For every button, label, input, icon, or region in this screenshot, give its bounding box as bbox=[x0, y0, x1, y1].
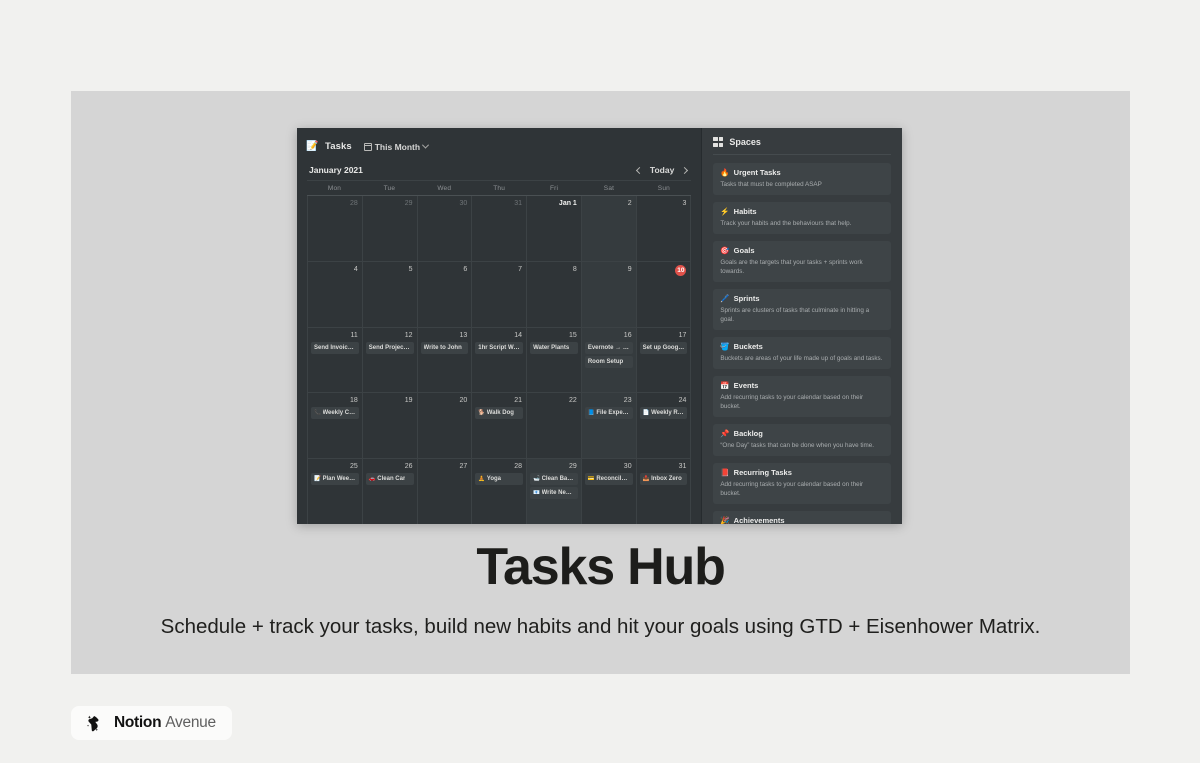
day-number: 15 bbox=[530, 331, 578, 340]
space-card-header: 🖊️Sprints bbox=[720, 294, 884, 303]
memo-emoji-icon: 📝 bbox=[307, 141, 318, 152]
task-chip-label: Set up Googl... bbox=[643, 344, 685, 352]
calendar-day-cell[interactable]: 3 bbox=[637, 196, 692, 261]
calendar-day-cell[interactable]: 12Send Project ... bbox=[363, 328, 418, 393]
space-name-label: Habits bbox=[734, 207, 757, 216]
calendar-day-cell[interactable]: 30 bbox=[418, 196, 473, 261]
day-number: 10 bbox=[640, 265, 688, 276]
calendar-day-cell[interactable]: 31 bbox=[472, 196, 527, 261]
day-number: 23 bbox=[585, 396, 633, 405]
calendar-task-chip[interactable]: 🧘Yoga bbox=[475, 473, 523, 485]
calendar-day-cell[interactable]: 28 bbox=[307, 196, 363, 261]
person-emoji-icon: 🧘 bbox=[478, 476, 484, 482]
space-card-header: 🔥Urgent Tasks bbox=[720, 168, 884, 177]
task-chip-label: Room Setup bbox=[588, 358, 623, 366]
calendar-task-chip[interactable]: Send Invoice ... bbox=[311, 342, 359, 354]
space-card-header: 📅Events bbox=[720, 381, 884, 390]
calendar-day-cell[interactable]: 20 bbox=[418, 393, 473, 458]
space-description: Track your habits and the behaviours tha… bbox=[720, 219, 884, 228]
day-number: 31 bbox=[640, 462, 688, 471]
space-name-label: Achievements bbox=[734, 516, 785, 524]
weekday-header: Wed bbox=[417, 185, 472, 192]
day-number: 30 bbox=[585, 462, 633, 471]
task-chip-label: Walk Dog bbox=[487, 409, 514, 417]
view-selector[interactable]: This Month bbox=[364, 142, 428, 152]
day-number: 9 bbox=[585, 265, 633, 274]
day-number: 7 bbox=[475, 265, 523, 274]
space-name-label: Urgent Tasks bbox=[734, 168, 781, 177]
space-description: Sprints are clusters of tasks that culmi… bbox=[720, 306, 884, 324]
day-number: 5 bbox=[366, 265, 414, 274]
previous-month-button[interactable] bbox=[635, 166, 643, 174]
calendar-day-cell[interactable]: 25📝Plan Week... bbox=[307, 459, 363, 524]
dog-emoji-icon: 🐕 bbox=[478, 410, 484, 416]
day-number: 28 bbox=[475, 462, 523, 471]
month-header: January 2021 Today bbox=[307, 165, 691, 181]
calendar-task-chip[interactable]: 💳Reconcile ... bbox=[585, 473, 633, 485]
spaces-pane: Spaces 🔥Urgent TasksTasks that must be c… bbox=[701, 128, 902, 524]
space-card-header: 📕Recurring Tasks bbox=[720, 468, 884, 477]
calendar-task-chip[interactable]: 📘File Expen... bbox=[585, 407, 633, 419]
space-description: Goals are the targets that your tasks + … bbox=[720, 258, 884, 276]
space-card[interactable]: 🎉Achievements bbox=[713, 511, 891, 524]
calendar-day-cell[interactable]: 9 bbox=[582, 262, 637, 327]
book-emoji-icon: 📘 bbox=[588, 410, 594, 416]
weekday-header-row: MonTueWedThuFriSatSun bbox=[307, 181, 691, 195]
calendar-day-cell[interactable]: 30💳Reconcile ... bbox=[582, 459, 637, 524]
space-emoji-icon: ⚡ bbox=[720, 208, 729, 216]
day-number: 20 bbox=[421, 396, 469, 405]
calendar-day-cell[interactable]: 22 bbox=[527, 393, 582, 458]
space-card-header: 🎯Goals bbox=[720, 246, 884, 255]
day-number: 13 bbox=[421, 331, 469, 340]
calendar-grid: 28293031Jan 1234567891011Send Invoice ..… bbox=[307, 195, 691, 524]
space-emoji-icon: 📅 bbox=[720, 382, 729, 390]
space-emoji-icon: 🎉 bbox=[720, 517, 729, 524]
weekday-header: Fri bbox=[527, 185, 582, 192]
car-emoji-icon: 🚗 bbox=[369, 476, 375, 482]
calendar-day-cell[interactable]: 17Set up Googl... bbox=[637, 328, 692, 393]
calendar-task-chip[interactable]: 📧Write New... bbox=[530, 487, 578, 499]
calendar-day-cell[interactable]: 4 bbox=[307, 262, 363, 327]
space-description: Add recurring tasks to your calendar bas… bbox=[720, 480, 884, 498]
today-button[interactable]: Today bbox=[650, 165, 674, 175]
day-number: 31 bbox=[475, 199, 523, 208]
task-chip-label: File Expen... bbox=[596, 409, 629, 417]
bath-emoji-icon: 🛁 bbox=[533, 476, 539, 482]
calendar-pane: 📝 Tasks This Month January 2021 Today Mo… bbox=[297, 128, 701, 524]
day-number: 2 bbox=[585, 199, 633, 208]
brand-name: Notion Avenue bbox=[114, 714, 216, 732]
space-card[interactable]: 🖊️SprintsSprints are clusters of tasks t… bbox=[713, 289, 891, 330]
calendar-day-cell[interactable]: 21🐕Walk Dog bbox=[472, 393, 527, 458]
calendar-day-cell[interactable]: 8 bbox=[527, 262, 582, 327]
calendar-day-cell[interactable]: 6 bbox=[418, 262, 473, 327]
memo-emoji-icon: 📝 bbox=[314, 476, 320, 482]
calendar-week-row: 45678910 bbox=[307, 261, 691, 327]
day-number: Jan 1 bbox=[530, 199, 578, 208]
day-number: 17 bbox=[640, 331, 688, 340]
calendar-day-cell[interactable]: 24📄Weekly Re... bbox=[637, 393, 692, 458]
weekday-header: Sat bbox=[582, 185, 637, 192]
calendar-task-chip[interactable]: 🛁Clean Bath... bbox=[530, 473, 578, 485]
chevron-down-icon bbox=[422, 142, 429, 149]
today-badge: 10 bbox=[675, 265, 686, 276]
task-chip-label: Clean Car bbox=[377, 475, 405, 483]
space-emoji-icon: 📕 bbox=[720, 469, 729, 477]
day-number: 14 bbox=[475, 331, 523, 340]
calendar-week-row: 25📝Plan Week...26🚗Clean Car2728🧘Yoga29🛁C… bbox=[307, 458, 691, 524]
calendar-task-chip[interactable]: 1hr Script Wri... bbox=[475, 342, 523, 354]
calendar-task-chip[interactable]: 🐕Walk Dog bbox=[475, 407, 523, 419]
calendar-day-cell[interactable]: 2 bbox=[582, 196, 637, 261]
task-chip-label: Evernote → N... bbox=[588, 344, 630, 352]
calendar-day-cell[interactable]: 15Water Plants bbox=[527, 328, 582, 393]
page-emoji-icon: 📄 bbox=[643, 410, 649, 416]
calendar-week-row: 28293031Jan 123 bbox=[307, 195, 691, 261]
day-number: 6 bbox=[421, 265, 469, 274]
space-card-header: 🎉Achievements bbox=[720, 516, 884, 524]
calendar-day-cell[interactable]: 31📥Inbox Zero bbox=[637, 459, 692, 524]
view-selector-label: This Month bbox=[375, 142, 420, 152]
brand-name-light: Avenue bbox=[165, 714, 216, 731]
space-name-label: Events bbox=[734, 381, 759, 390]
task-chip-label: Send Project ... bbox=[369, 344, 411, 352]
day-number: 25 bbox=[311, 462, 359, 471]
day-number: 19 bbox=[366, 396, 414, 405]
calendar-day-cell[interactable]: 28🧘Yoga bbox=[472, 459, 527, 524]
space-card[interactable]: 📅EventsAdd recurring tasks to your calen… bbox=[713, 376, 891, 417]
space-name-label: Backlog bbox=[734, 429, 763, 438]
calendar-week-row: 18📞Weekly Ca...192021🐕Walk Dog2223📘File … bbox=[307, 392, 691, 458]
task-chip-label: Yoga bbox=[487, 475, 501, 483]
task-chip-label: Weekly Re... bbox=[651, 409, 684, 417]
calendar-task-chip[interactable]: 📄Weekly Re... bbox=[640, 407, 688, 419]
phone-emoji-icon: 📞 bbox=[314, 410, 320, 416]
day-number: 30 bbox=[421, 199, 469, 208]
page-subtitle: Schedule + track your tasks, build new h… bbox=[71, 614, 1130, 640]
calendar-day-cell[interactable]: 18📞Weekly Ca... bbox=[307, 393, 363, 458]
task-chip-label: 1hr Script Wri... bbox=[478, 344, 520, 352]
space-name-label: Goals bbox=[734, 246, 755, 255]
task-chip-label: Write to John bbox=[424, 344, 462, 352]
mail-emoji-icon: 📧 bbox=[533, 490, 539, 496]
calendar-day-cell[interactable]: 16Evernote → N...Room Setup bbox=[582, 328, 637, 393]
space-card[interactable]: 🪣BucketsBuckets are areas of your life m… bbox=[713, 337, 891, 369]
month-label: January 2021 bbox=[309, 165, 363, 175]
calendar-day-cell[interactable]: Jan 1 bbox=[527, 196, 582, 261]
calendar-task-chip[interactable]: 📥Inbox Zero bbox=[640, 473, 688, 485]
calendar-day-cell[interactable]: 27 bbox=[418, 459, 473, 524]
day-number: 26 bbox=[366, 462, 414, 471]
calendar-task-chip[interactable]: Set up Googl... bbox=[640, 342, 688, 354]
day-number: 21 bbox=[475, 396, 523, 405]
space-card[interactable]: 🔥Urgent TasksTasks that must be complete… bbox=[713, 163, 891, 195]
day-number: 3 bbox=[640, 199, 688, 208]
space-emoji-icon: 🖊️ bbox=[720, 295, 729, 303]
month-navigation: Today bbox=[635, 165, 689, 175]
spaces-title: Spaces bbox=[729, 137, 761, 147]
next-month-button[interactable] bbox=[681, 166, 689, 174]
space-description: Add recurring tasks to your calendar bas… bbox=[720, 393, 884, 411]
task-chip-label: Weekly Ca... bbox=[323, 409, 356, 417]
day-number: 11 bbox=[311, 331, 359, 340]
calendar-day-cell[interactable]: 141hr Script Wri... bbox=[472, 328, 527, 393]
space-emoji-icon: 📌 bbox=[720, 430, 729, 438]
spaces-header: Spaces bbox=[713, 137, 891, 155]
task-chip-label: Send Invoice ... bbox=[314, 344, 356, 352]
database-title: Tasks bbox=[325, 141, 352, 152]
calendar-toolbar: 📝 Tasks This Month bbox=[307, 137, 691, 156]
calendar-day-cell[interactable]: 13Write to John bbox=[418, 328, 473, 393]
calendar-day-cell[interactable]: 19 bbox=[363, 393, 418, 458]
task-chip-label: Water Plants bbox=[533, 344, 569, 352]
space-card[interactable]: ⚡HabitsTrack your habits and the behavio… bbox=[713, 202, 891, 234]
task-chip-label: Clean Bath... bbox=[542, 475, 575, 483]
day-number: 18 bbox=[311, 396, 359, 405]
day-number: 16 bbox=[585, 331, 633, 340]
card-emoji-icon: 💳 bbox=[588, 476, 594, 482]
calendar-day-cell[interactable]: 10 bbox=[637, 262, 692, 327]
space-emoji-icon: 🪣 bbox=[720, 343, 729, 351]
day-number: 8 bbox=[530, 265, 578, 274]
calendar-day-cell[interactable]: 5 bbox=[363, 262, 418, 327]
task-chip-label: Inbox Zero bbox=[651, 475, 682, 483]
day-number: 22 bbox=[530, 396, 578, 405]
day-number: 4 bbox=[311, 265, 359, 274]
grid-icon bbox=[713, 137, 723, 147]
brand-name-bold: Notion bbox=[114, 714, 161, 731]
day-number: 29 bbox=[366, 199, 414, 208]
calendar-week-row: 11Send Invoice ...12Send Project ...13Wr… bbox=[307, 327, 691, 393]
brand-badge: Notion Avenue bbox=[71, 706, 232, 740]
hero-caption: Tasks Hub Schedule + track your tasks, b… bbox=[71, 536, 1130, 640]
weekday-header: Mon bbox=[307, 185, 362, 192]
weekday-header: Sun bbox=[636, 185, 691, 192]
space-card[interactable]: 📌Backlog“One Day” tasks that can be done… bbox=[713, 424, 891, 456]
calendar-day-cell[interactable]: 29 bbox=[363, 196, 418, 261]
day-number: 29 bbox=[530, 462, 578, 471]
calendar-day-cell[interactable]: 11Send Invoice ... bbox=[307, 328, 363, 393]
calendar-task-chip[interactable]: 📝Plan Week... bbox=[311, 473, 359, 485]
space-card-header: 🪣Buckets bbox=[720, 342, 884, 351]
space-name-label: Sprints bbox=[734, 294, 760, 303]
day-number: 28 bbox=[311, 199, 359, 208]
day-number: 24 bbox=[640, 396, 688, 405]
tray-emoji-icon: 📥 bbox=[643, 476, 649, 482]
space-card-header: 📌Backlog bbox=[720, 429, 884, 438]
calendar-task-chip[interactable]: Send Project ... bbox=[366, 342, 414, 354]
app-window-screenshot: 📝 Tasks This Month January 2021 Today Mo… bbox=[297, 128, 902, 524]
notion-avenue-logo-icon bbox=[84, 713, 105, 734]
calendar-day-cell[interactable]: 7 bbox=[472, 262, 527, 327]
space-emoji-icon: 🔥 bbox=[720, 169, 729, 177]
day-number: 12 bbox=[366, 331, 414, 340]
day-number: 27 bbox=[421, 462, 469, 471]
task-chip-label: Write New... bbox=[542, 489, 575, 497]
space-name-label: Buckets bbox=[734, 342, 763, 351]
weekday-header: Tue bbox=[362, 185, 417, 192]
calendar-icon bbox=[364, 143, 372, 151]
spaces-list: 🔥Urgent TasksTasks that must be complete… bbox=[713, 163, 891, 524]
space-description: Tasks that must be completed ASAP bbox=[720, 180, 884, 189]
calendar-task-chip[interactable]: Water Plants bbox=[530, 342, 578, 354]
calendar-day-cell[interactable]: 26🚗Clean Car bbox=[363, 459, 418, 524]
calendar-task-chip[interactable]: Evernote → N... bbox=[585, 342, 633, 354]
space-emoji-icon: 🎯 bbox=[720, 247, 729, 255]
calendar-task-chip[interactable]: 📞Weekly Ca... bbox=[311, 407, 359, 419]
calendar-day-cell[interactable]: 29🛁Clean Bath...📧Write New... bbox=[527, 459, 582, 524]
space-card[interactable]: 🎯GoalsGoals are the targets that your ta… bbox=[713, 241, 891, 282]
space-description: “One Day” tasks that can be done when yo… bbox=[720, 441, 884, 450]
calendar-task-chip[interactable]: Write to John bbox=[421, 342, 469, 354]
task-chip-label: Reconcile ... bbox=[596, 475, 629, 483]
space-description: Buckets are areas of your life made up o… bbox=[720, 354, 884, 363]
space-name-label: Recurring Tasks bbox=[734, 468, 792, 477]
calendar-task-chip[interactable]: Room Setup bbox=[585, 356, 633, 368]
calendar-task-chip[interactable]: 🚗Clean Car bbox=[366, 473, 414, 485]
space-card[interactable]: 📕Recurring TasksAdd recurring tasks to y… bbox=[713, 463, 891, 504]
calendar-day-cell[interactable]: 23📘File Expen... bbox=[582, 393, 637, 458]
space-card-header: ⚡Habits bbox=[720, 207, 884, 216]
page-title: Tasks Hub bbox=[71, 536, 1130, 598]
task-chip-label: Plan Week... bbox=[323, 475, 356, 483]
weekday-header: Thu bbox=[472, 185, 527, 192]
